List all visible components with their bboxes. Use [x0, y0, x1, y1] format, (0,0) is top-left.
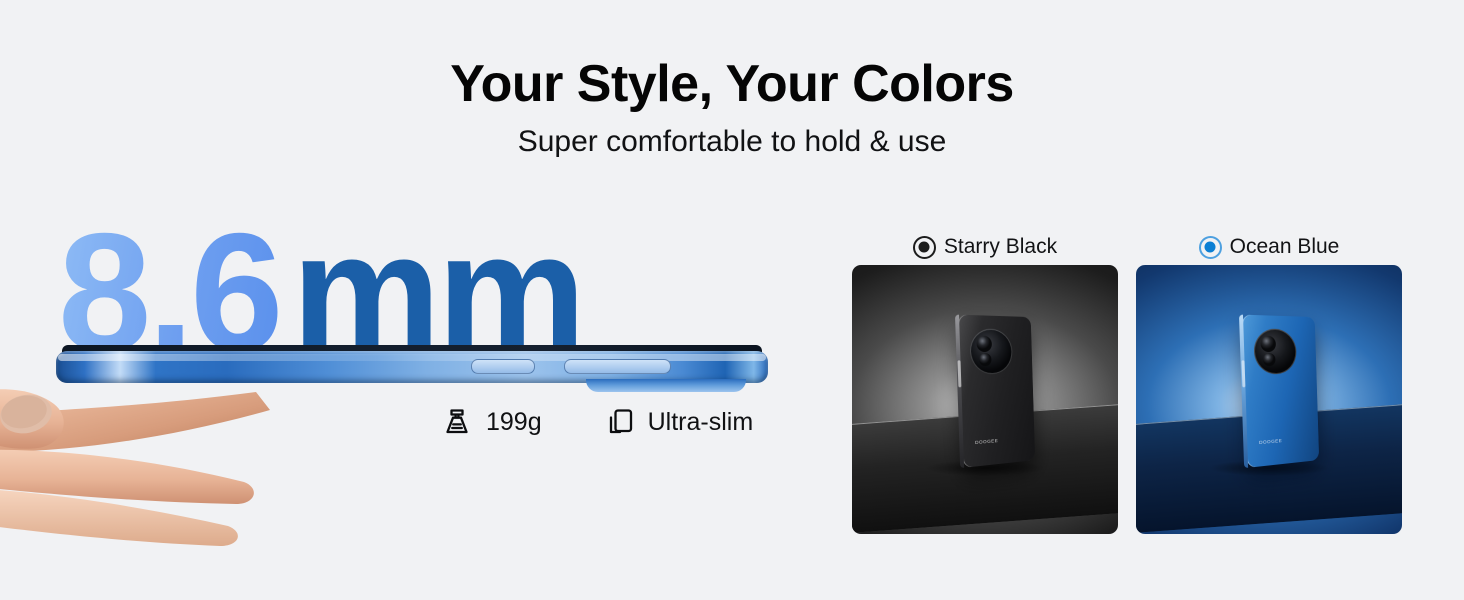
product-image-starry-black[interactable]: DOOGEE — [852, 265, 1118, 534]
thickness-showcase: 8.6mm — [0, 190, 800, 570]
spec-list: 199g Ultra-slim — [440, 405, 753, 439]
camera-module-icon — [1253, 328, 1297, 374]
camera-module-icon — [969, 328, 1013, 374]
phone-side-keys — [1242, 360, 1246, 387]
page-subtitle: Super comfortable to hold & use — [0, 124, 1464, 160]
phone-side-profile — [56, 345, 768, 389]
color-label-ocean-blue: Ocean Blue — [1136, 232, 1402, 262]
page-title: Your Style, Your Colors — [0, 56, 1464, 113]
brand-logo: DOOGEE — [975, 438, 998, 445]
phone-render-starry-black: DOOGEE — [958, 314, 1035, 467]
hand-illustration — [0, 370, 290, 560]
color-label-starry-black: Starry Black — [852, 232, 1118, 262]
slim-phone-icon — [604, 405, 636, 439]
color-name-starry-black: Starry Black — [944, 235, 1057, 259]
color-swatch-icon-ocean-blue[interactable] — [1199, 236, 1222, 259]
color-options: Starry Black DOOGEE Ocean Blue — [852, 232, 1402, 534]
camera-bump — [586, 379, 746, 392]
color-name-ocean-blue: Ocean Blue — [1230, 235, 1340, 259]
color-option-ocean-blue[interactable]: Ocean Blue DOOGEE — [1136, 232, 1402, 534]
spec-weight-label: 199g — [486, 408, 542, 437]
weight-scale-icon — [440, 405, 474, 439]
volume-button — [564, 359, 671, 374]
color-option-starry-black[interactable]: Starry Black DOOGEE — [852, 232, 1118, 534]
power-button — [471, 359, 535, 374]
color-swatch-icon-starry-black[interactable] — [913, 236, 936, 259]
spec-slim-label: Ultra-slim — [648, 408, 754, 437]
phone-render-ocean-blue: DOOGEE — [1242, 314, 1319, 467]
product-image-ocean-blue[interactable]: DOOGEE — [1136, 265, 1402, 534]
spec-weight: 199g — [440, 405, 542, 439]
spec-slim: Ultra-slim — [604, 405, 754, 439]
brand-logo: DOOGEE — [1259, 438, 1282, 445]
product-banner: Your Style, Your Colors Super comfortabl… — [0, 0, 1464, 600]
phone-side-keys — [958, 360, 962, 387]
